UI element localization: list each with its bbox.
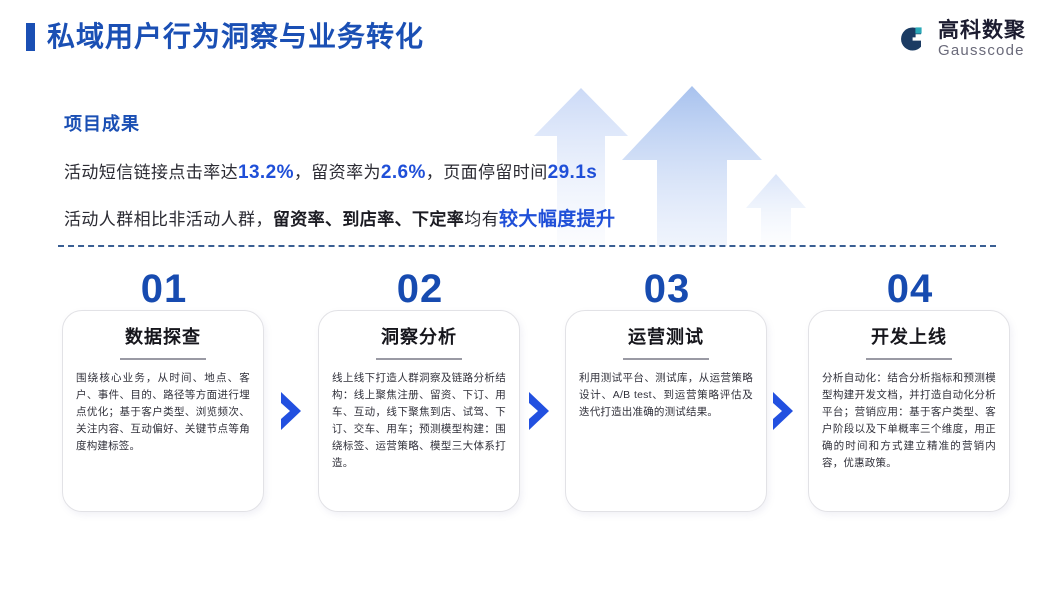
process-steps: 01 数据探查 围绕核心业务，从时间、地点、客户、事件、目的、路径等方面进行埋点… xyxy=(0,268,1048,518)
results-text: 活动人群相比非活动人群， xyxy=(64,210,273,229)
results-text: 活动短信链接点击率达 xyxy=(64,163,238,182)
step-title-rule xyxy=(120,358,206,360)
step-card-2[interactable]: 02 洞察分析 线上线下打造人群洞察及链路分析结构：线上聚焦注册、留资、下订、用… xyxy=(318,310,520,512)
results-text: 均有 xyxy=(464,210,499,229)
step-title-rule xyxy=(376,358,462,360)
results-heading: 项目成果 xyxy=(64,110,764,136)
step-card-3[interactable]: 03 运营测试 利用测试平台、测试库，从运营策略设计、A/B test、到运营策… xyxy=(565,310,767,512)
results-line-1: 活动短信链接点击率达13.2%，留资率为2.6%，页面停留时间29.1s xyxy=(64,158,764,184)
step-title: 开发上线 xyxy=(809,323,1009,349)
logo-name-cn: 高科数聚 xyxy=(938,20,1026,41)
chevron-right-icon xyxy=(770,390,796,432)
step-title-rule xyxy=(866,358,952,360)
results-highlight-uplift: 较大幅度提升 xyxy=(499,209,615,230)
step-title: 运营测试 xyxy=(566,323,766,349)
step-body: 利用测试平台、测试库，从运营策略设计、A/B test、到运营策略评估及迭代打造… xyxy=(579,370,753,421)
metric-lead-rate: 2.6% xyxy=(381,162,426,183)
results-line-2: 活动人群相比非活动人群，留资率、到店率、下定率均有较大幅度提升 xyxy=(64,204,764,231)
results-text: ，页面停留时间 xyxy=(426,163,548,182)
project-results-block: 项目成果 活动短信链接点击率达13.2%，留资率为2.6%，页面停留时间29.1… xyxy=(64,110,764,251)
results-emphasis-metrics: 留资率、到店率、下定率 xyxy=(273,210,464,229)
step-number: 03 xyxy=(566,267,768,311)
metric-click-rate: 13.2% xyxy=(238,162,294,183)
step-title: 数据探查 xyxy=(63,323,263,349)
results-text: ，留资率为 xyxy=(294,163,381,182)
step-body: 线上线下打造人群洞察及链路分析结构：线上聚焦注册、留资、下订、用车、互动，线下聚… xyxy=(332,370,506,472)
metric-dwell-time: 29.1s xyxy=(548,162,598,183)
step-title: 洞察分析 xyxy=(319,323,519,349)
logo-name-en: Gausscode xyxy=(938,43,1026,58)
brand-logo: 高科数聚 Gausscode xyxy=(895,20,1026,58)
section-divider xyxy=(58,245,996,247)
step-number: 04 xyxy=(809,267,1011,311)
step-body: 分析自动化：结合分析指标和预测模型构建开发文档，并打造自动化分析平台；营销应用：… xyxy=(822,370,996,472)
chevron-right-icon xyxy=(526,390,552,432)
page-title: 私域用户行为洞察与业务转化 xyxy=(47,18,424,56)
step-card-4[interactable]: 04 开发上线 分析自动化：结合分析指标和预测模型构建开发文档，并打造自动化分析… xyxy=(808,310,1010,512)
step-card-1[interactable]: 01 数据探查 围绕核心业务，从时间、地点、客户、事件、目的、路径等方面进行埋点… xyxy=(62,310,264,512)
gausscode-circle-logo-icon xyxy=(895,22,929,56)
step-number: 01 xyxy=(63,267,265,311)
step-body: 围绕核心业务，从时间、地点、客户、事件、目的、路径等方面进行埋点优化；基于客户类… xyxy=(76,370,250,455)
step-title-rule xyxy=(623,358,709,360)
chevron-right-icon xyxy=(278,390,304,432)
step-number: 02 xyxy=(319,267,521,311)
page-header: 私域用户行为洞察与业务转化 高科数聚 Gausscode xyxy=(0,0,1048,72)
title-accent-bar xyxy=(26,23,35,51)
